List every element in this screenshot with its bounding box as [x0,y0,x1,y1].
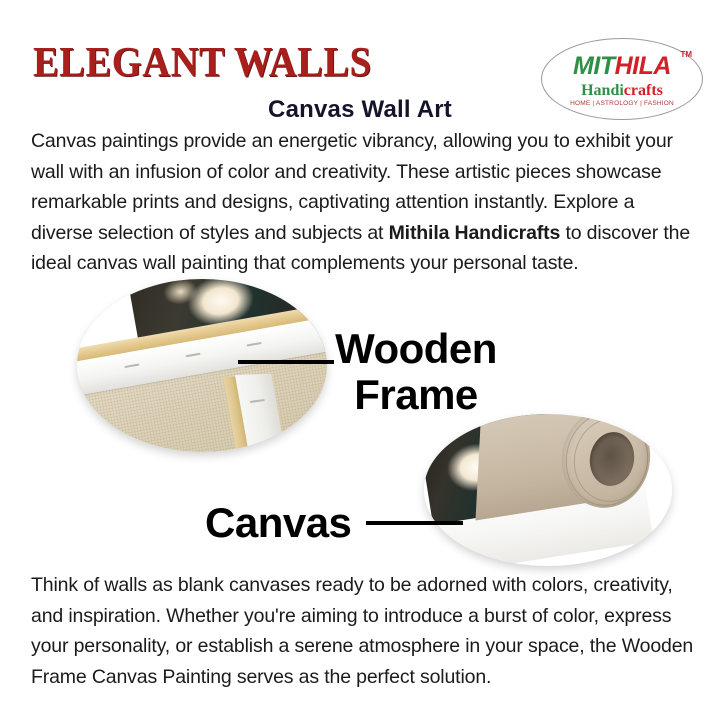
brand-logo: MITHILA TM Handicrafts HOME | ASTROLOGY … [541,38,703,120]
callout-label-wooden-frame: WoodenFrame [333,326,499,418]
canvas-leader-line [366,521,463,525]
callout-line-1: Wooden [335,325,497,372]
callout-line-2: Frame [354,371,478,418]
staple-icon [185,353,200,358]
wooden-frame-photo [77,279,327,452]
logo-subname-part-1: Handi [581,82,624,99]
rolled-canvas-scene [424,414,672,566]
wooden-frame-leader-line [238,360,334,364]
rolled-canvas-photo [424,414,672,566]
callout-label-canvas: Canvas [205,500,351,546]
closing-paragraph: Think of walls as blank canvases ready t… [31,570,699,692]
logo-wordmark-part-3: HILA [615,52,671,80]
wooden-frame-scene [77,279,327,452]
brand-highlight: Mithila Handicrafts [389,222,561,244]
logo-subname-part-2: crafts [624,82,663,99]
trademark-symbol: TM [680,50,692,59]
staple-icon [124,363,139,368]
staple-icon [250,399,265,403]
logo-wordmark: MITHILA [541,54,703,79]
logo-wordmark-part-2: T [600,52,615,80]
logo-tagline: HOME | ASTROLOGY | FASHION [541,100,703,108]
infographic-page: ELEGANT WALLS Canvas Wall Art MITHILA TM… [0,0,720,720]
page-title: ELEGANT WALLS [33,42,372,84]
logo-wordmark-part-1: MI [573,52,600,80]
staple-icon [247,342,262,347]
logo-subname: Handicrafts [541,82,703,100]
intro-paragraph: Canvas paintings provide an energetic vi… [31,126,693,279]
